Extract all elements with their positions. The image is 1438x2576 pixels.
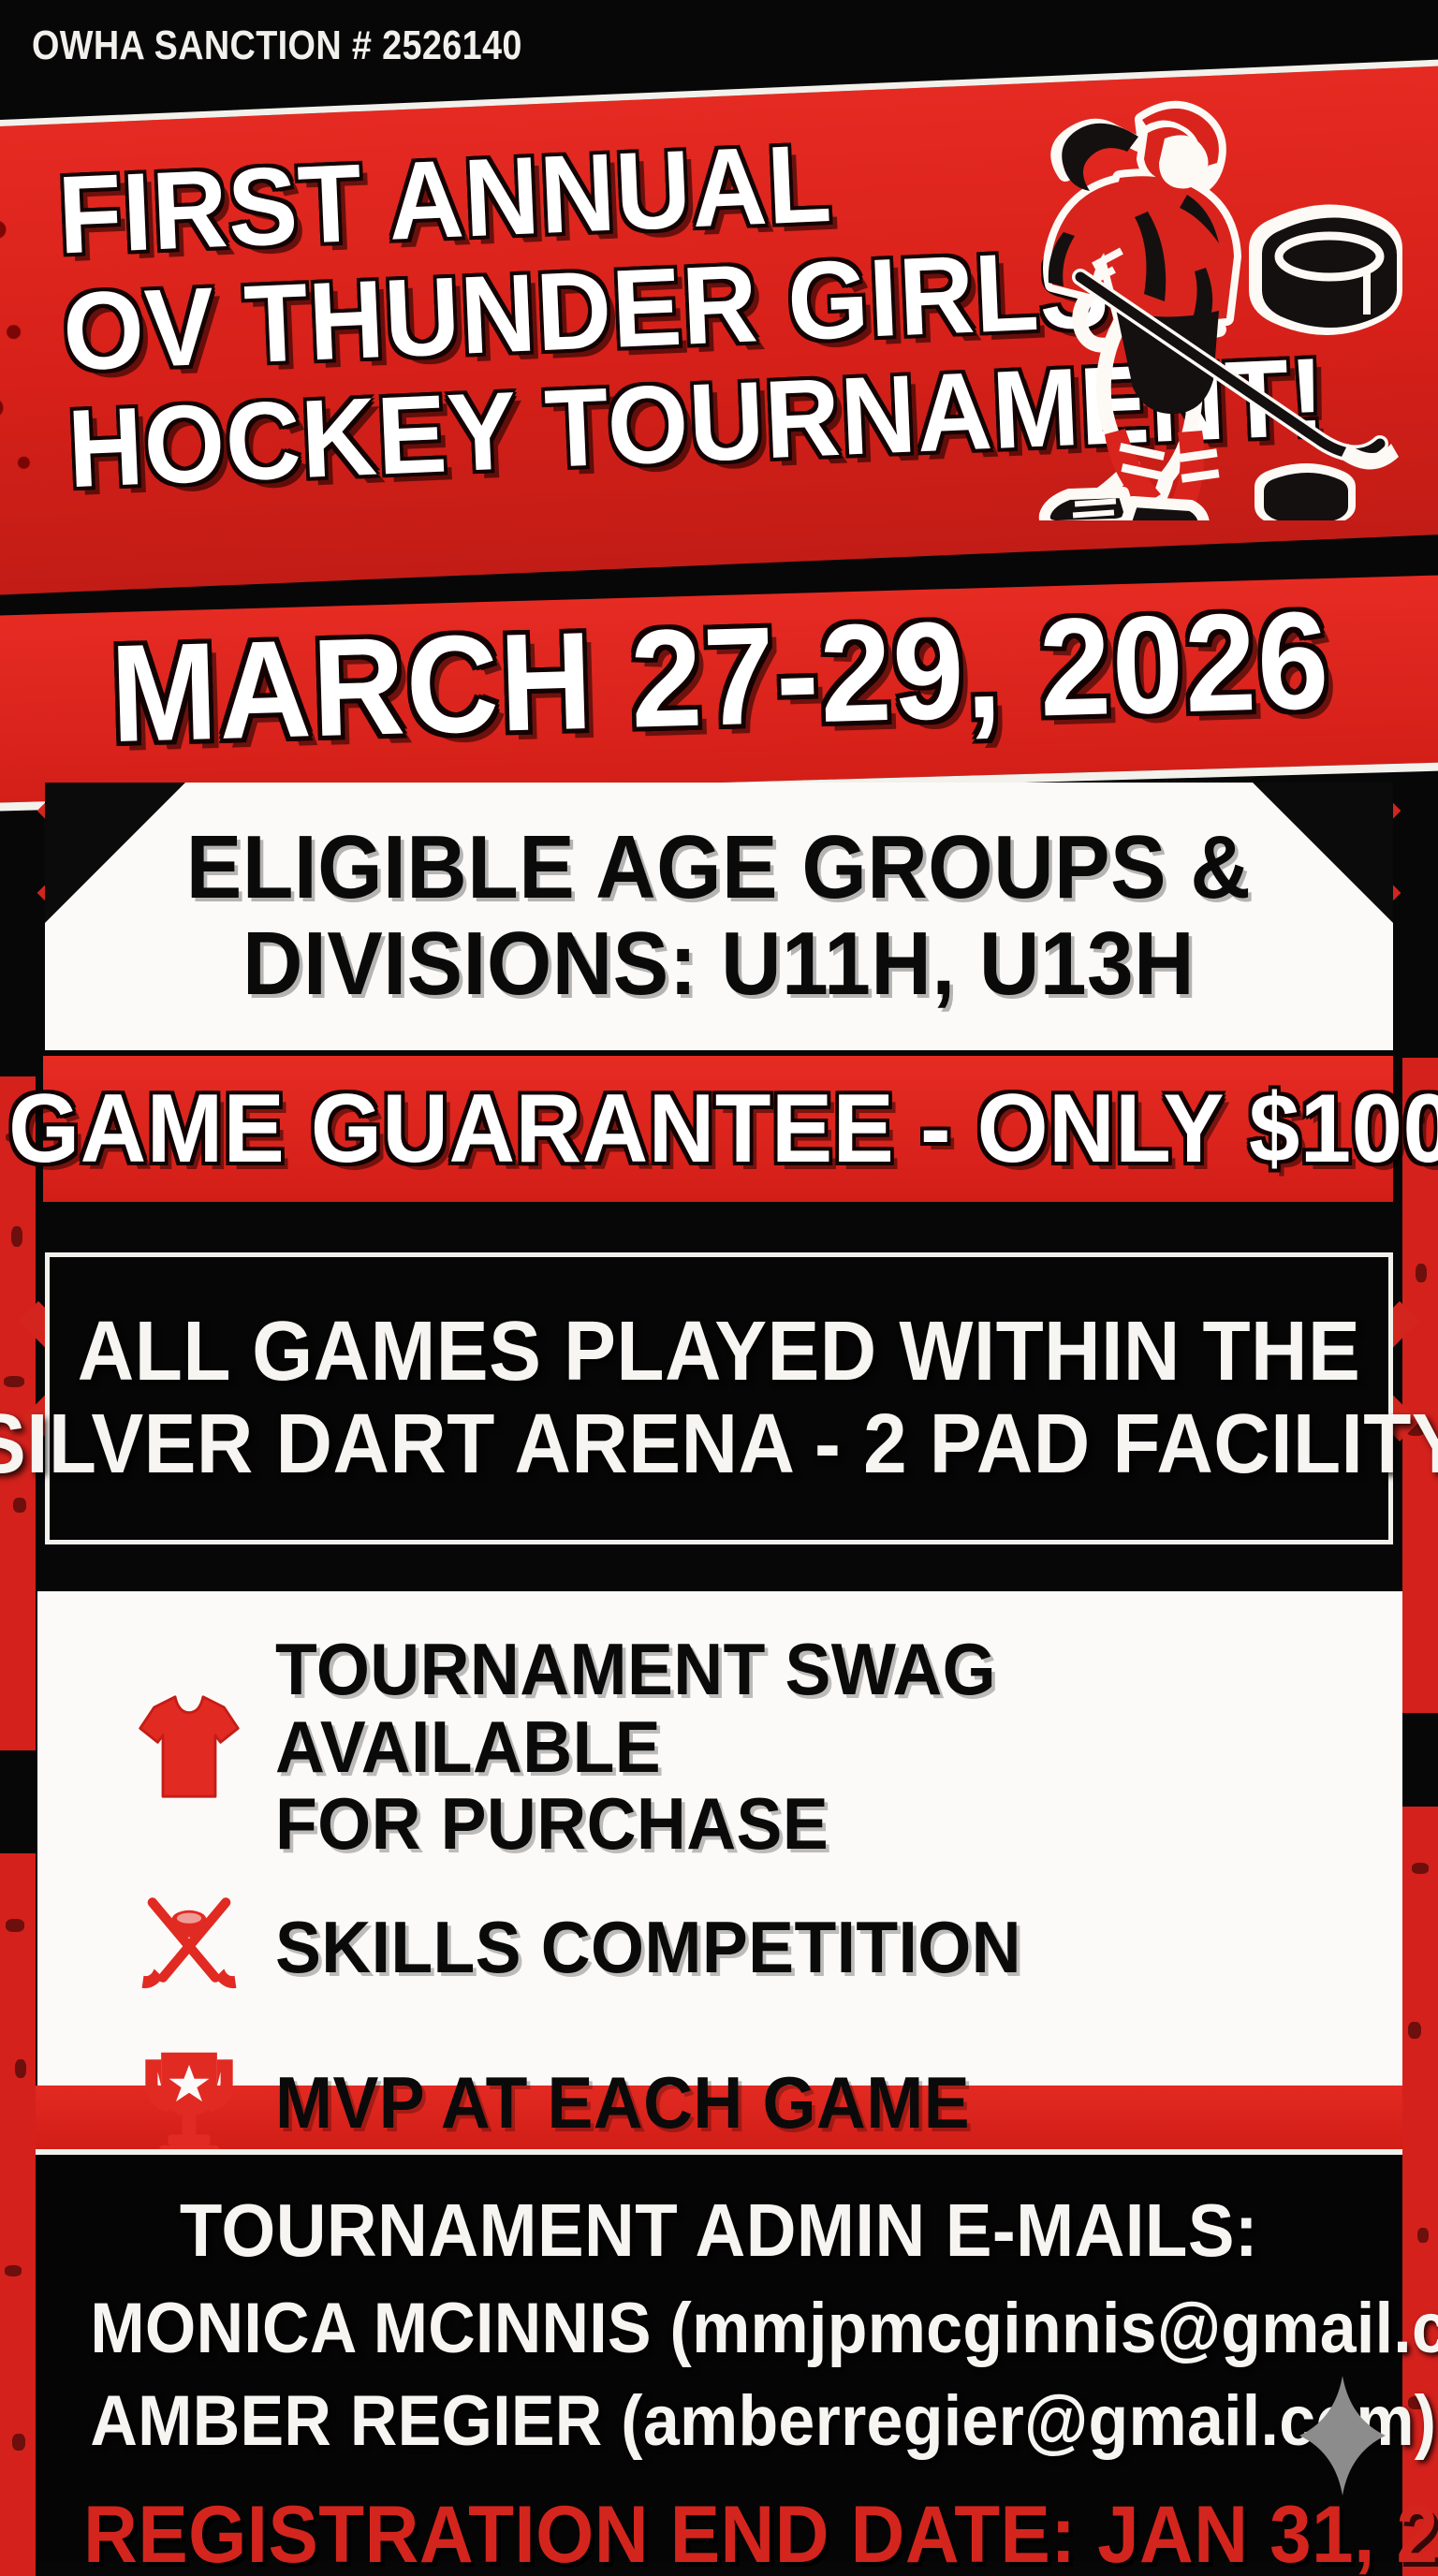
- venue-line-1: ALL GAMES PLAYED WITHIN THE: [0, 1306, 1438, 1398]
- contact-box: TOURNAMENT ADMIN E-MAILS: MONICA MCINNIS…: [36, 2149, 1402, 2561]
- price-banner: 4 GAME GUARANTEE - ONLY $1000: [43, 1056, 1393, 1202]
- venue-box: ALL GAMES PLAYED WITHIN THE SILVER DART …: [45, 1252, 1393, 1544]
- poster-title: FIRST ANNUAL OV THUNDER GIRLS HOCKEY TOU…: [56, 105, 1328, 508]
- venue-line-2: SILVER DART ARENA - 2 PAD FACILITY: [0, 1398, 1438, 1491]
- contact-heading: TOURNAMENT ADMIN E-MAILS:: [83, 2190, 1355, 2271]
- crossed-hockey-sticks-icon: [127, 1878, 251, 2016]
- feature-row-swag: TOURNAMENT SWAG AVAILABLE FOR PURCHASE: [37, 1631, 1402, 1863]
- admin-email-monica[interactable]: MONICA MCINNIS (mmjpmcginnis@gmail.com): [90, 2288, 1347, 2370]
- tournament-dates: MARCH 27-29, 2026: [30, 589, 1412, 766]
- game-guarantee-price: 4 GAME GUARANTEE - ONLY $1000: [0, 1080, 1438, 1178]
- age-groups-line-2: DIVISIONS: U11H, U13H: [186, 916, 1251, 1013]
- venue-text: ALL GAMES PLAYED WITHIN THE SILVER DART …: [0, 1306, 1438, 1491]
- features-box: TOURNAMENT SWAG AVAILABLE FOR PURCHASE S…: [37, 1591, 1402, 2086]
- title-banner: FIRST ANNUAL OV THUNDER GIRLS HOCKEY TOU…: [0, 58, 1438, 595]
- tournament-poster: OWHA SANCTION # 2526140 FIRST ANNUAL OV …: [0, 0, 1438, 2576]
- date-banner: MARCH 27-29, 2026: [0, 575, 1438, 812]
- feature-label-mvp: MVP AT EACH GAME: [275, 2064, 970, 2142]
- age-groups-text: ELIGIBLE AGE GROUPS & DIVISIONS: U11H, U…: [186, 820, 1251, 1012]
- four-point-star-icon: [1299, 2376, 1386, 2495]
- age-groups-line-1: ELIGIBLE AGE GROUPS &: [186, 820, 1251, 916]
- admin-email-amber[interactable]: AMBER REGIER (amberregier@gmail.com): [90, 2380, 1347, 2463]
- tshirt-icon: [127, 1677, 251, 1816]
- eligible-age-groups-box: ELIGIBLE AGE GROUPS & DIVISIONS: U11H, U…: [45, 783, 1393, 1050]
- feature-row-skills: SKILLS COMPETITION: [37, 1878, 1402, 2016]
- owha-sanction-number: OWHA SANCTION # 2526140: [32, 22, 522, 69]
- feature-label-skills: SKILLS COMPETITION: [275, 1909, 1021, 1986]
- feature-label-swag: TOURNAMENT SWAG AVAILABLE FOR PURCHASE: [275, 1631, 1335, 1863]
- registration-end-date: REGISTRATION END DATE: JAN 31, 2026: [83, 2495, 1355, 2575]
